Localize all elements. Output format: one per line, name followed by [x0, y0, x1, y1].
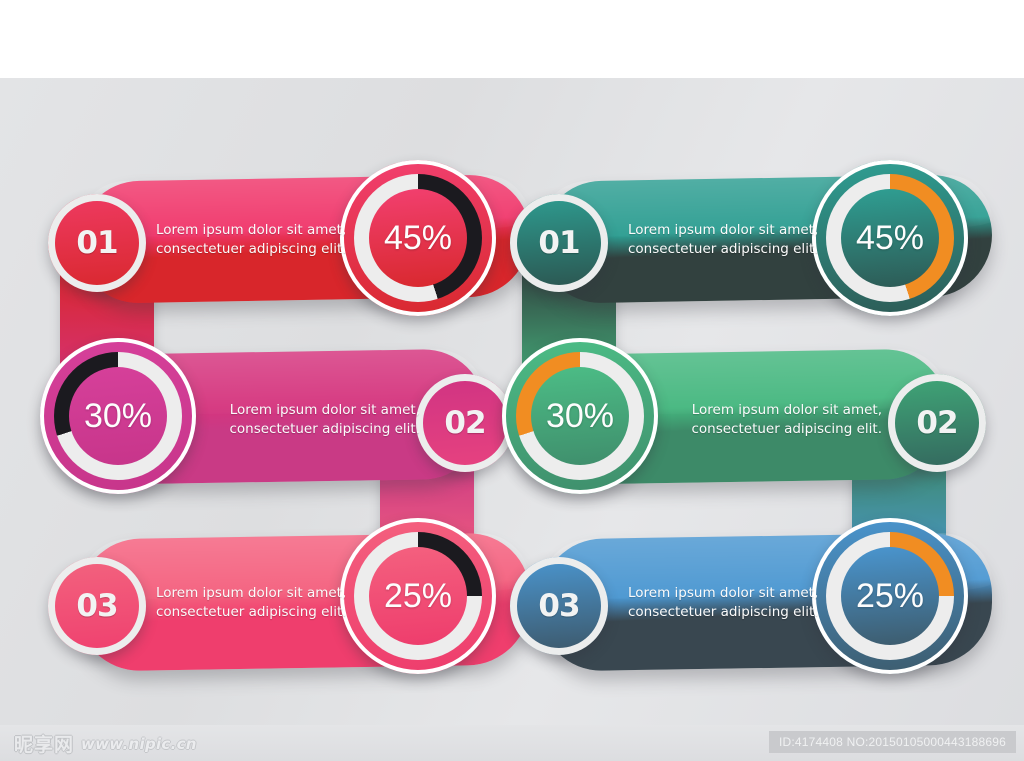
description-line-2: consectetuer adipiscing elit.: [156, 240, 370, 259]
step-number-label: 02: [916, 405, 957, 441]
row-description-text: Lorem ipsum dolor sit amet,consectetuer …: [628, 584, 842, 622]
watermark-id-text: ID:4174408 NO:20150105000443188696: [769, 731, 1016, 753]
donut-center: 30%: [531, 367, 629, 465]
donut-percent-label: 45%: [856, 219, 924, 258]
donut-center: 45%: [369, 189, 467, 287]
description-line-2: consectetuer adipiscing elit.: [668, 420, 882, 439]
percentage-donut-chart[interactable]: 30%: [502, 338, 658, 494]
donut-percent-label: 25%: [384, 577, 452, 616]
row-description-text: Lorem ipsum dolor sit amet,consectetuer …: [156, 221, 370, 259]
row-description-text: Lorem ipsum dolor sit amet,consectetuer …: [628, 221, 842, 259]
step-number-badge[interactable]: 02: [888, 374, 986, 472]
watermark-brand: 昵享网 www.nipic.cn: [14, 730, 197, 757]
description-line-1: Lorem ipsum dolor sit amet,: [206, 401, 420, 420]
step-number-label: 03: [76, 588, 117, 624]
step-number-badge[interactable]: 03: [510, 557, 608, 655]
description-line-1: Lorem ipsum dolor sit amet,: [156, 221, 370, 240]
description-line-1: Lorem ipsum dolor sit amet,: [668, 401, 882, 420]
step-number-badge[interactable]: 02: [416, 374, 514, 472]
watermark-url-text: www.nipic.cn: [81, 735, 197, 753]
description-line-1: Lorem ipsum dolor sit amet,: [628, 221, 842, 240]
row-description-text: Lorem ipsum dolor sit amet,consectetuer …: [206, 401, 420, 439]
percentage-donut-chart[interactable]: 30%: [40, 338, 196, 494]
donut-percent-label: 25%: [856, 577, 924, 616]
step-number-badge[interactable]: 03: [48, 557, 146, 655]
description-line-2: consectetuer adipiscing elit.: [628, 603, 842, 622]
step-number-label: 01: [538, 225, 579, 261]
step-number-label: 01: [76, 225, 117, 261]
donut-percent-label: 30%: [84, 397, 152, 436]
description-line-2: consectetuer adipiscing elit.: [206, 420, 420, 439]
row-description-text: Lorem ipsum dolor sit amet,consectetuer …: [156, 584, 370, 622]
donut-center: 25%: [841, 547, 939, 645]
step-number-badge[interactable]: 01: [48, 194, 146, 292]
step-number-label: 03: [538, 588, 579, 624]
donut-center: 30%: [69, 367, 167, 465]
step-number-label: 02: [444, 405, 485, 441]
top-white-band: [0, 0, 1024, 78]
step-number-badge[interactable]: 01: [510, 194, 608, 292]
donut-center: 45%: [841, 189, 939, 287]
description-line-2: consectetuer adipiscing elit.: [156, 603, 370, 622]
watermark-logo-text: 昵享网: [14, 730, 74, 757]
donut-percent-label: 30%: [546, 397, 614, 436]
donut-center: 25%: [369, 547, 467, 645]
description-line-2: consectetuer adipiscing elit.: [628, 240, 842, 259]
infographic-stage: 0145%Lorem ipsum dolor sit amet,consecte…: [0, 0, 1024, 761]
description-line-1: Lorem ipsum dolor sit amet,: [628, 584, 842, 603]
description-line-1: Lorem ipsum dolor sit amet,: [156, 584, 370, 603]
donut-percent-label: 45%: [384, 219, 452, 258]
row-description-text: Lorem ipsum dolor sit amet,consectetuer …: [668, 401, 882, 439]
